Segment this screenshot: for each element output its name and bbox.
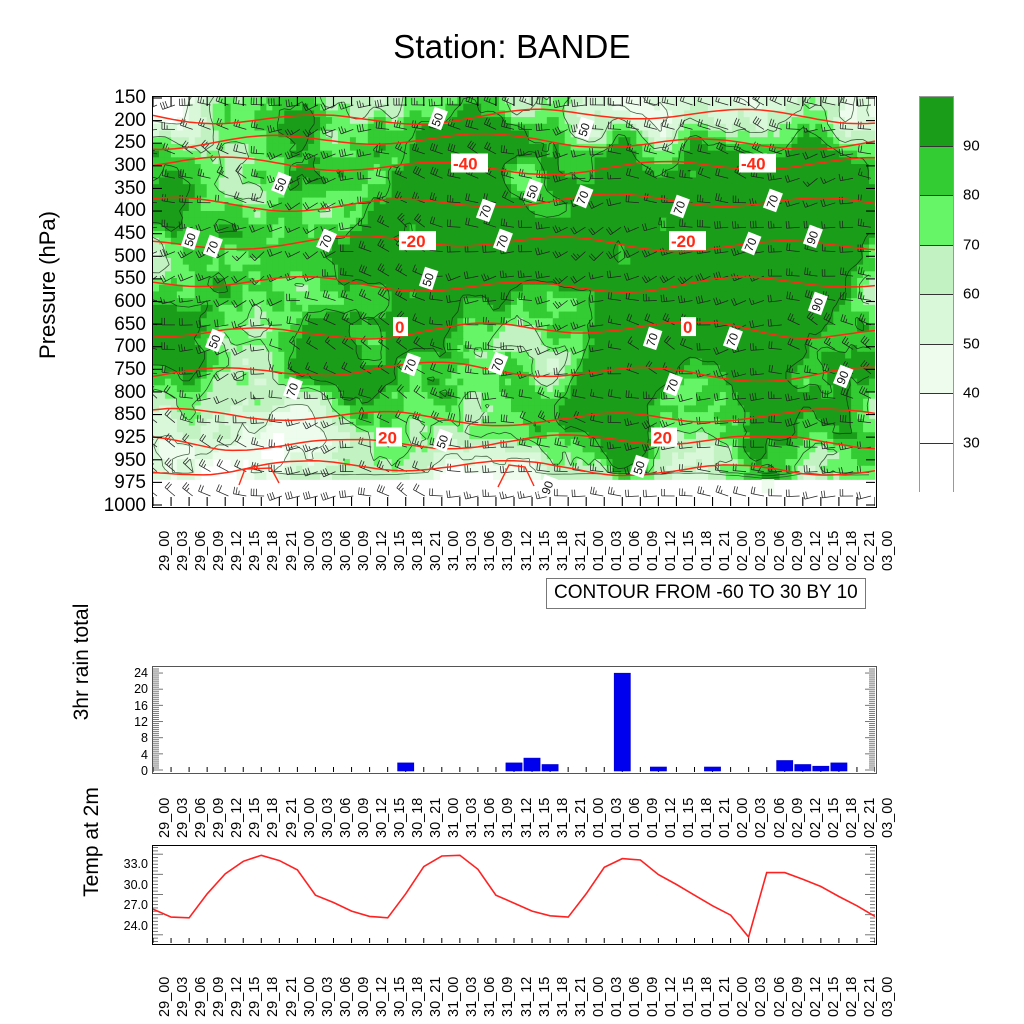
x-tick-label: 31_21 bbox=[573, 977, 589, 1017]
colorbar-segment bbox=[920, 295, 953, 345]
x-tick-label: 01_09 bbox=[645, 531, 661, 571]
x-tick-label: 31_15 bbox=[537, 531, 553, 571]
x-tick-label: 02_03 bbox=[753, 977, 769, 1017]
x-tick-label: 02_06 bbox=[772, 977, 788, 1017]
x-tick-label: 30_12 bbox=[374, 798, 390, 838]
x-tick-label: 30_09 bbox=[356, 977, 372, 1017]
contour-plot-svg: -40-40-20-200020205050505050505050507070… bbox=[153, 97, 875, 506]
x-tick-label: 01_12 bbox=[663, 798, 679, 838]
x-tick-label: 02_06 bbox=[772, 531, 788, 571]
colorbar-tick-label: 80 bbox=[963, 187, 980, 204]
x-tick-label: 30_03 bbox=[320, 798, 336, 838]
x-tick-label: 30_06 bbox=[338, 798, 354, 838]
x-tick-label: 01_09 bbox=[645, 977, 661, 1017]
x-tick-label: 02_15 bbox=[826, 798, 842, 838]
x-tick-label: 31_15 bbox=[537, 977, 553, 1017]
x-tick-label: 01_03 bbox=[609, 798, 625, 838]
x-tick-label: 29_06 bbox=[193, 977, 209, 1017]
temperature-line-panel bbox=[152, 845, 877, 945]
x-tick-label: 01_18 bbox=[699, 798, 715, 838]
temp-y-tick-label: 27.0 bbox=[102, 899, 148, 912]
colorbar-segment bbox=[920, 444, 953, 494]
colorbar-tick-label: 60 bbox=[963, 286, 980, 303]
x-tick-label: 02_15 bbox=[826, 977, 842, 1017]
x-tick-label: 29_09 bbox=[211, 798, 227, 838]
x-tick-label: 01_12 bbox=[663, 531, 679, 571]
x-tick-label: 31_21 bbox=[573, 798, 589, 838]
x-tick-label: 01_18 bbox=[699, 531, 715, 571]
colorbar-tick-label: 50 bbox=[963, 335, 980, 352]
x-tick-label: 31_09 bbox=[500, 531, 516, 571]
x-tick-label: 30_12 bbox=[374, 977, 390, 1017]
colorbar-segment bbox=[920, 345, 953, 395]
x-tick-label: 03_00 bbox=[880, 977, 896, 1017]
x-tick-label: 02_09 bbox=[790, 798, 806, 838]
x-tick-label: 01_03 bbox=[609, 977, 625, 1017]
x-tick-label: 01_00 bbox=[591, 531, 607, 571]
x-tick-label: 30_15 bbox=[392, 977, 408, 1017]
colorbar-tick-label: 40 bbox=[963, 385, 980, 402]
x-tick-label: 30_18 bbox=[410, 798, 426, 838]
x-tick-label: 31_12 bbox=[519, 798, 535, 838]
temp-y-tick-labels: 24.027.030.033.0 bbox=[98, 0, 148, 1024]
x-tick-label: 31_03 bbox=[464, 531, 480, 571]
x-tick-label: 01_06 bbox=[627, 798, 643, 838]
x-tick-label: 29_09 bbox=[211, 531, 227, 571]
x-tick-label: 02_12 bbox=[808, 977, 824, 1017]
x-tick-label: 30_21 bbox=[428, 977, 444, 1017]
x-tick-label: 31_06 bbox=[482, 977, 498, 1017]
x-tick-label: 01_21 bbox=[717, 977, 733, 1017]
x-tick-label: 29_03 bbox=[175, 531, 191, 571]
x-tick-label: 29_18 bbox=[265, 531, 281, 571]
humidity-cross-section-panel: -40-40-20-200020205050505050505050507070… bbox=[152, 96, 877, 508]
x-tick-label: 31_06 bbox=[482, 531, 498, 571]
x-tick-label: 31_21 bbox=[573, 531, 589, 571]
contour-range-note: CONTOUR FROM -60 TO 30 BY 10 bbox=[546, 578, 866, 609]
x-tick-label: 30_06 bbox=[338, 977, 354, 1017]
x-tick-label: 29_09 bbox=[211, 977, 227, 1017]
x-tick-label: 02_00 bbox=[735, 798, 751, 838]
rain-y-axis-label: 3hr rain total bbox=[70, 562, 94, 762]
x-tick-label: 30_03 bbox=[320, 531, 336, 571]
x-tick-label: 01_09 bbox=[645, 798, 661, 838]
x-tick-label: 30_09 bbox=[356, 798, 372, 838]
x-tick-label: 30_00 bbox=[302, 531, 318, 571]
colorbar-tick-label: 70 bbox=[963, 236, 980, 253]
x-tick-label: 29_15 bbox=[247, 531, 263, 571]
x-tick-label: 02_21 bbox=[862, 531, 878, 571]
x-tick-label: 01_00 bbox=[591, 977, 607, 1017]
x-tick-label: 31_12 bbox=[519, 977, 535, 1017]
x-tick-label: 31_00 bbox=[446, 798, 462, 838]
x-tick-label: 03_00 bbox=[880, 798, 896, 838]
temp-y-tick-label: 24.0 bbox=[102, 920, 148, 933]
x-tick-label: 31_00 bbox=[446, 977, 462, 1017]
x-tick-label: 02_18 bbox=[844, 798, 860, 838]
x-tick-label: 29_03 bbox=[175, 977, 191, 1017]
x-tick-label: 30_21 bbox=[428, 531, 444, 571]
x-tick-label: 30_12 bbox=[374, 531, 390, 571]
rain-bar-panel bbox=[152, 666, 877, 774]
x-tick-label: 30_06 bbox=[338, 531, 354, 571]
x-tick-label: 31_18 bbox=[555, 798, 571, 838]
x-tick-label: 02_00 bbox=[735, 977, 751, 1017]
x-tick-label: 31_03 bbox=[464, 798, 480, 838]
humidity-colorbar bbox=[919, 96, 954, 492]
x-tick-label: 02_15 bbox=[826, 531, 842, 571]
page-title: Station: BANDE bbox=[0, 28, 1024, 66]
x-tick-label: 29_15 bbox=[247, 977, 263, 1017]
temp-y-tick-label: 33.0 bbox=[102, 858, 148, 871]
x-tick-label: 29_12 bbox=[229, 977, 245, 1017]
x-tick-label: 02_03 bbox=[753, 531, 769, 571]
x-tick-label: 30_00 bbox=[302, 977, 318, 1017]
colorbar-segment bbox=[920, 394, 953, 444]
x-tick-label: 31_12 bbox=[519, 531, 535, 571]
x-tick-label: 31_09 bbox=[500, 798, 516, 838]
x-tick-label: 30_21 bbox=[428, 798, 444, 838]
colorbar-tick-label: 30 bbox=[963, 434, 980, 451]
x-tick-label: 30_00 bbox=[302, 798, 318, 838]
colorbar-tick-label: 90 bbox=[963, 137, 980, 154]
x-tick-label: 02_21 bbox=[862, 977, 878, 1017]
temp-y-tick-label: 30.0 bbox=[102, 878, 148, 891]
rain-bars-svg bbox=[153, 667, 875, 772]
x-tick-label: 01_12 bbox=[663, 977, 679, 1017]
colorbar-segment bbox=[920, 196, 953, 246]
x-tick-label: 29_21 bbox=[284, 531, 300, 571]
x-tick-label: 31_18 bbox=[555, 531, 571, 571]
x-tick-label: 02_18 bbox=[844, 531, 860, 571]
x-tick-label: 30_18 bbox=[410, 977, 426, 1017]
x-tick-label: 01_21 bbox=[717, 798, 733, 838]
x-tick-label: 31_15 bbox=[537, 798, 553, 838]
x-tick-label: 02_09 bbox=[790, 531, 806, 571]
x-tick-label: 02_06 bbox=[772, 798, 788, 838]
colorbar-segment bbox=[920, 147, 953, 197]
x-tick-label: 30_15 bbox=[392, 531, 408, 571]
x-tick-label: 02_12 bbox=[808, 798, 824, 838]
x-tick-label: 01_06 bbox=[627, 531, 643, 571]
x-tick-label: 31_09 bbox=[500, 977, 516, 1017]
x-tick-label: 01_15 bbox=[681, 977, 697, 1017]
colorbar-segment bbox=[920, 246, 953, 296]
x-tick-label: 29_00 bbox=[157, 798, 173, 838]
x-tick-label: 01_03 bbox=[609, 531, 625, 571]
x-tick-label: 29_03 bbox=[175, 798, 191, 838]
x-tick-label: 02_09 bbox=[790, 977, 806, 1017]
colorbar-segment bbox=[920, 97, 953, 147]
x-tick-label: 01_21 bbox=[717, 531, 733, 571]
x-tick-label: 29_21 bbox=[284, 798, 300, 838]
x-tick-label: 01_15 bbox=[681, 798, 697, 838]
x-tick-label: 29_18 bbox=[265, 798, 281, 838]
x-tick-label: 02_03 bbox=[753, 798, 769, 838]
x-tick-label: 02_00 bbox=[735, 531, 751, 571]
x-tick-label: 01_00 bbox=[591, 798, 607, 838]
x-tick-label: 29_06 bbox=[193, 798, 209, 838]
x-tick-label: 29_00 bbox=[157, 531, 173, 571]
x-tick-label: 31_18 bbox=[555, 977, 571, 1017]
x-tick-label: 30_15 bbox=[392, 798, 408, 838]
x-tick-label: 01_06 bbox=[627, 977, 643, 1017]
x-tick-label: 29_06 bbox=[193, 531, 209, 571]
temp-line-svg bbox=[153, 846, 875, 943]
x-tick-label: 29_12 bbox=[229, 531, 245, 571]
x-tick-label: 01_15 bbox=[681, 531, 697, 571]
x-tick-label: 29_21 bbox=[284, 977, 300, 1017]
x-tick-label: 31_06 bbox=[482, 798, 498, 838]
x-tick-label: 02_12 bbox=[808, 531, 824, 571]
x-tick-label: 03_00 bbox=[880, 531, 896, 571]
x-tick-label: 29_18 bbox=[265, 977, 281, 1017]
x-tick-label: 01_18 bbox=[699, 977, 715, 1017]
x-tick-label: 02_21 bbox=[862, 798, 878, 838]
x-tick-label: 30_09 bbox=[356, 531, 372, 571]
x-tick-label: 29_00 bbox=[157, 977, 173, 1017]
x-tick-label: 31_00 bbox=[446, 531, 462, 571]
x-tick-label: 30_03 bbox=[320, 977, 336, 1017]
main-y-axis-label: Pressure (hPa) bbox=[35, 105, 61, 465]
x-tick-label: 30_18 bbox=[410, 531, 426, 571]
x-tick-label: 02_18 bbox=[844, 977, 860, 1017]
x-tick-label: 29_12 bbox=[229, 798, 245, 838]
x-tick-label: 31_03 bbox=[464, 977, 480, 1017]
x-tick-label: 29_15 bbox=[247, 798, 263, 838]
